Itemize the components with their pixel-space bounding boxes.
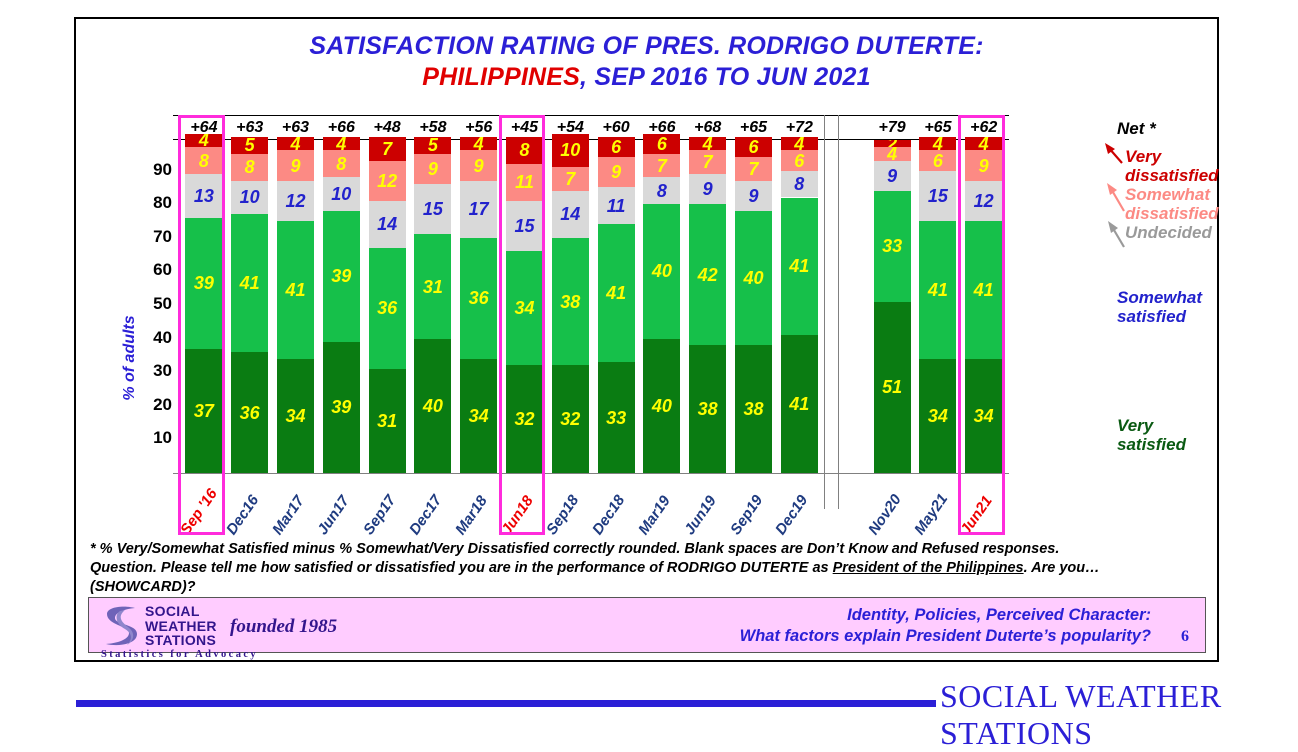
x-axis-label: Dec19 bbox=[772, 492, 811, 538]
segment-value: 10 bbox=[552, 141, 589, 159]
segment-value: 5 bbox=[414, 137, 451, 154]
segment-undecided[interactable]: 9 bbox=[689, 174, 726, 204]
net-value: +63 bbox=[227, 116, 273, 139]
segment-very-satisfied[interactable]: 40 bbox=[643, 339, 680, 473]
segment-undecided[interactable]: 11 bbox=[598, 187, 635, 224]
segment-value: 4 bbox=[323, 137, 360, 150]
x-axis-label: Dec18 bbox=[589, 492, 628, 538]
footer-rule bbox=[76, 700, 936, 707]
segment-value: 6 bbox=[643, 135, 680, 153]
segment-value: 14 bbox=[552, 205, 589, 223]
sws-line-3: STATIONS bbox=[145, 633, 217, 648]
segment-somewhat-satisfied[interactable]: 36 bbox=[460, 238, 497, 359]
segment-undecided[interactable]: 14 bbox=[552, 191, 589, 238]
segment-value: 4 bbox=[689, 137, 726, 150]
segment-very-satisfied[interactable]: 31 bbox=[369, 369, 406, 473]
segment-value: 33 bbox=[874, 237, 911, 255]
segment-very-dissatisfied[interactable]: 6 bbox=[598, 137, 635, 157]
segment-value: 41 bbox=[231, 274, 268, 292]
bar-column[interactable]: 39391084 bbox=[323, 137, 360, 473]
segment-somewhat-dissatisfied[interactable]: 12 bbox=[369, 161, 406, 201]
x-axis-label: Nov20 bbox=[865, 491, 905, 538]
net-value: +63 bbox=[273, 116, 319, 139]
segment-value: 41 bbox=[919, 281, 956, 299]
segment-somewhat-dissatisfied[interactable]: 7 bbox=[552, 167, 589, 191]
segment-value: 15 bbox=[919, 187, 956, 205]
segment-very-satisfied[interactable]: 40 bbox=[414, 339, 451, 473]
bar-column[interactable]: 4040876 bbox=[643, 134, 680, 473]
segment-very-satisfied[interactable]: 51 bbox=[874, 302, 911, 473]
segment-very-dissatisfied[interactable]: 6 bbox=[735, 137, 772, 157]
segment-very-dissatisfied[interactable]: 4 bbox=[277, 137, 314, 150]
segment-value: 9 bbox=[277, 157, 314, 175]
segment-somewhat-satisfied[interactable]: 38 bbox=[552, 238, 589, 366]
panel-separator-1 bbox=[824, 115, 825, 509]
bar-column[interactable]: 313614127 bbox=[369, 137, 406, 473]
highlight-box bbox=[499, 115, 546, 535]
segment-value: 4 bbox=[874, 147, 911, 160]
x-axis-label: Sep17 bbox=[360, 492, 399, 538]
net-value: +60 bbox=[593, 116, 639, 139]
segment-somewhat-satisfied[interactable]: 41 bbox=[231, 214, 268, 352]
segment-value: 40 bbox=[414, 397, 451, 415]
bar-column[interactable]: 5133942 bbox=[874, 140, 911, 473]
segment-very-satisfied[interactable]: 33 bbox=[598, 362, 635, 473]
segment-value: 41 bbox=[781, 257, 818, 275]
segment-undecided[interactable]: 17 bbox=[460, 181, 497, 238]
panel-separator-2 bbox=[838, 115, 839, 509]
segment-value: 9 bbox=[414, 160, 451, 178]
segment-value: 9 bbox=[874, 167, 911, 185]
sws-founded: founded 1985 bbox=[230, 616, 337, 638]
segment-undecided[interactable]: 12 bbox=[277, 181, 314, 221]
footnote-tail: . Are you… bbox=[1024, 560, 1100, 576]
net-value: +66 bbox=[318, 116, 364, 139]
sws-line-1: SOCIAL bbox=[145, 604, 217, 619]
segment-undecided[interactable]: 10 bbox=[323, 177, 360, 211]
band-headline-line-1: Identity, Policies, Perceived Character: bbox=[740, 605, 1151, 626]
segment-value: 39 bbox=[323, 267, 360, 285]
bar-column[interactable]: 36411085 bbox=[231, 137, 268, 473]
x-axis-baseline bbox=[173, 473, 1009, 474]
legend-very-satisfied: Verysatisfied bbox=[1117, 416, 1186, 454]
segment-value: 5 bbox=[231, 137, 268, 154]
segment-very-dissatisfied[interactable]: 4 bbox=[919, 137, 956, 150]
segment-value: 12 bbox=[369, 172, 406, 190]
segment-undecided[interactable]: 9 bbox=[874, 161, 911, 191]
segment-very-dissatisfied[interactable]: 5 bbox=[414, 137, 451, 154]
segment-very-dissatisfied[interactable]: 6 bbox=[643, 134, 680, 154]
x-axis-label: Mar17 bbox=[269, 493, 308, 538]
segment-somewhat-dissatisfied[interactable]: 9 bbox=[460, 150, 497, 180]
segment-somewhat-satisfied[interactable]: 40 bbox=[735, 211, 772, 345]
segment-value: 38 bbox=[552, 293, 589, 311]
bar-column[interactable]: 3842974 bbox=[689, 137, 726, 473]
segment-value: 11 bbox=[598, 197, 635, 215]
segment-value: 34 bbox=[277, 407, 314, 425]
bar-column[interactable]: 34411294 bbox=[277, 137, 314, 473]
segment-value: 9 bbox=[689, 180, 726, 198]
segment-value: 40 bbox=[643, 397, 680, 415]
segment-very-satisfied[interactable]: 34 bbox=[460, 359, 497, 473]
segment-value: 36 bbox=[460, 289, 497, 307]
segment-very-dissatisfied[interactable]: 2 bbox=[874, 140, 911, 147]
net-value: +79 bbox=[869, 116, 915, 139]
segment-value: 8 bbox=[323, 155, 360, 173]
sws-wordmark: SOCIAL WEATHER STATIONS bbox=[145, 604, 217, 648]
segment-value: 7 bbox=[689, 153, 726, 171]
segment-value: 6 bbox=[735, 138, 772, 156]
segment-somewhat-dissatisfied[interactable]: 9 bbox=[598, 157, 635, 187]
segment-value: 7 bbox=[735, 160, 772, 178]
bottom-band: SOCIAL WEATHER STATIONS founded 1985 Sta… bbox=[88, 597, 1206, 653]
segment-somewhat-dissatisfied[interactable]: 7 bbox=[689, 150, 726, 174]
x-axis-label: Jun19 bbox=[681, 493, 720, 538]
segment-undecided[interactable]: 8 bbox=[781, 171, 818, 198]
x-axis-label: Sep18 bbox=[543, 492, 582, 538]
footnote-line-3: (SHOWCARD)? bbox=[90, 578, 1200, 597]
segment-undecided[interactable]: 14 bbox=[369, 201, 406, 248]
segment-very-dissatisfied[interactable]: 4 bbox=[323, 137, 360, 150]
segment-value: 8 bbox=[231, 158, 268, 176]
segment-very-dissatisfied[interactable]: 4 bbox=[460, 137, 497, 150]
segment-value: 10 bbox=[231, 188, 268, 206]
segment-somewhat-dissatisfied[interactable]: 4 bbox=[874, 147, 911, 160]
net-value: +58 bbox=[410, 116, 456, 139]
x-axis-label: Sep19 bbox=[727, 492, 766, 538]
segment-somewhat-dissatisfied[interactable]: 9 bbox=[277, 150, 314, 180]
segment-value: 32 bbox=[552, 410, 589, 428]
bar-column[interactable]: 40311595 bbox=[414, 137, 451, 473]
footer-brand: SOCIAL WEATHER STATIONS bbox=[940, 678, 1298, 752]
segment-very-satisfied[interactable]: 34 bbox=[919, 359, 956, 473]
segment-very-dissatisfied[interactable]: 4 bbox=[781, 137, 818, 150]
net-value: +56 bbox=[456, 116, 502, 139]
segment-somewhat-dissatisfied[interactable]: 9 bbox=[414, 154, 451, 184]
y-tick-30: 30 bbox=[126, 361, 172, 381]
segment-value: 8 bbox=[643, 182, 680, 200]
bar-column[interactable]: 3840976 bbox=[735, 137, 772, 473]
segment-somewhat-satisfied[interactable]: 33 bbox=[874, 191, 911, 302]
segment-value: 9 bbox=[598, 163, 635, 181]
segment-value: 4 bbox=[277, 137, 314, 150]
footnote-line-1: * % Very/Somewhat Satisfied minus % Some… bbox=[90, 540, 1200, 559]
net-value: +65 bbox=[731, 116, 777, 139]
x-axis-label: Mar18 bbox=[452, 493, 491, 538]
segment-undecided[interactable]: 10 bbox=[231, 181, 268, 215]
segment-value: 7 bbox=[369, 140, 406, 158]
segment-value: 14 bbox=[369, 215, 406, 233]
page-number: 6 bbox=[1181, 628, 1189, 646]
legend-arrows bbox=[1102, 141, 1162, 271]
sws-line-2: WEATHER bbox=[145, 619, 217, 634]
segment-value: 17 bbox=[460, 200, 497, 218]
segment-somewhat-satisfied[interactable]: 42 bbox=[689, 204, 726, 345]
y-tick-60: 60 bbox=[126, 260, 172, 280]
segment-value: 40 bbox=[643, 262, 680, 280]
segment-somewhat-satisfied[interactable]: 39 bbox=[323, 211, 360, 342]
segment-value: 7 bbox=[552, 170, 589, 188]
footnotes: * % Very/Somewhat Satisfied minus % Some… bbox=[90, 540, 1200, 597]
segment-value: 41 bbox=[598, 284, 635, 302]
bar-column[interactable]: 33411196 bbox=[598, 137, 635, 473]
segment-value: 41 bbox=[781, 395, 818, 413]
bar-column[interactable]: 34411564 bbox=[919, 137, 956, 473]
segment-somewhat-dissatisfied[interactable]: 7 bbox=[643, 154, 680, 178]
x-axis-label: Dec16 bbox=[223, 492, 262, 538]
segment-value: 2 bbox=[874, 140, 911, 147]
segment-very-dissatisfied[interactable]: 4 bbox=[689, 137, 726, 150]
segment-somewhat-dissatisfied[interactable]: 8 bbox=[323, 150, 360, 177]
segment-value: 51 bbox=[874, 378, 911, 396]
segment-value: 4 bbox=[781, 137, 818, 150]
segment-value: 31 bbox=[369, 412, 406, 430]
segment-undecided[interactable]: 8 bbox=[643, 177, 680, 204]
segment-value: 10 bbox=[323, 185, 360, 203]
segment-value: 39 bbox=[323, 398, 360, 416]
segment-value: 36 bbox=[231, 404, 268, 422]
segment-very-satisfied[interactable]: 41 bbox=[781, 335, 818, 473]
segment-very-satisfied[interactable]: 36 bbox=[231, 352, 268, 473]
highlight-box bbox=[958, 115, 1005, 535]
y-tick-80: 80 bbox=[126, 193, 172, 213]
segment-somewhat-dissatisfied[interactable]: 6 bbox=[781, 150, 818, 170]
segment-somewhat-satisfied[interactable]: 41 bbox=[781, 198, 818, 336]
segment-undecided[interactable]: 15 bbox=[414, 184, 451, 234]
segment-undecided[interactable]: 15 bbox=[919, 171, 956, 221]
y-tick-50: 50 bbox=[126, 294, 172, 314]
segment-value: 6 bbox=[919, 152, 956, 170]
segment-somewhat-satisfied[interactable]: 40 bbox=[643, 204, 680, 338]
footnote-question: Question. Please tell me how satisfied o… bbox=[90, 560, 833, 576]
segment-value: 31 bbox=[414, 278, 451, 296]
bar-column[interactable]: 323814710 bbox=[552, 134, 589, 473]
segment-somewhat-dissatisfied[interactable]: 8 bbox=[231, 154, 268, 181]
segment-somewhat-satisfied[interactable]: 31 bbox=[414, 234, 451, 338]
segment-value: 9 bbox=[460, 157, 497, 175]
band-headline-line-2: What factors explain President Duterte’s… bbox=[740, 626, 1151, 647]
segment-very-dissatisfied[interactable]: 10 bbox=[552, 134, 589, 168]
segment-value: 9 bbox=[735, 187, 772, 205]
net-value: +68 bbox=[685, 116, 731, 139]
x-axis-label: Dec17 bbox=[406, 492, 445, 538]
segment-value: 15 bbox=[414, 200, 451, 218]
highlight-box bbox=[178, 115, 225, 535]
y-tick-70: 70 bbox=[126, 227, 172, 247]
segment-value: 34 bbox=[460, 407, 497, 425]
sws-logo: SOCIAL WEATHER STATIONS founded 1985 Sta… bbox=[97, 602, 397, 650]
segment-somewhat-dissatisfied[interactable]: 6 bbox=[919, 150, 956, 170]
slide-frame: SATISFACTION RATING OF PRES. RODRIGO DUT… bbox=[74, 17, 1219, 662]
sws-swoosh-icon bbox=[103, 604, 143, 648]
x-axis-label: May21 bbox=[911, 491, 951, 538]
segment-value: 34 bbox=[919, 407, 956, 425]
segment-value: 12 bbox=[277, 192, 314, 210]
legend-somewhat-satisfied: Somewhatsatisfied bbox=[1117, 288, 1202, 326]
footnote-underlined: President of the Philippines bbox=[833, 560, 1024, 576]
segment-somewhat-dissatisfied[interactable]: 7 bbox=[735, 157, 772, 181]
footnote-line-2: Question. Please tell me how satisfied o… bbox=[90, 559, 1200, 578]
band-headline: Identity, Policies, Perceived Character:… bbox=[740, 605, 1151, 647]
segment-value: 33 bbox=[598, 409, 635, 427]
segment-value: 38 bbox=[735, 400, 772, 418]
x-axis-label: Jun17 bbox=[314, 493, 353, 538]
segment-value: 4 bbox=[919, 137, 956, 150]
segment-very-dissatisfied[interactable]: 5 bbox=[231, 137, 268, 154]
segment-somewhat-satisfied[interactable]: 36 bbox=[369, 248, 406, 369]
segment-very-dissatisfied[interactable]: 7 bbox=[369, 137, 406, 161]
y-tick-20: 20 bbox=[126, 395, 172, 415]
segment-somewhat-satisfied[interactable]: 41 bbox=[277, 221, 314, 359]
sws-tagline: Statistics for Advocacy bbox=[101, 649, 258, 660]
segment-very-satisfied[interactable]: 32 bbox=[552, 365, 589, 473]
legend-net-label: Net * bbox=[1117, 119, 1156, 138]
segment-value: 6 bbox=[598, 138, 635, 156]
net-value: +72 bbox=[776, 116, 822, 139]
net-value: +65 bbox=[915, 116, 961, 139]
segment-value: 8 bbox=[781, 175, 818, 193]
bar-column[interactable]: 34361794 bbox=[460, 137, 497, 473]
segment-very-satisfied[interactable]: 38 bbox=[735, 345, 772, 473]
segment-undecided[interactable]: 9 bbox=[735, 181, 772, 211]
segment-value: 38 bbox=[689, 400, 726, 418]
x-axis-label: Mar19 bbox=[635, 493, 674, 538]
segment-somewhat-satisfied[interactable]: 41 bbox=[919, 221, 956, 359]
bar-column[interactable]: 4141864 bbox=[781, 137, 818, 473]
segment-somewhat-satisfied[interactable]: 41 bbox=[598, 224, 635, 362]
y-tick-90: 90 bbox=[126, 160, 172, 180]
y-tick-40: 40 bbox=[126, 328, 172, 348]
segment-value: 40 bbox=[735, 269, 772, 287]
segment-value: 36 bbox=[369, 299, 406, 317]
net-value: +48 bbox=[364, 116, 410, 139]
segment-value: 4 bbox=[460, 137, 497, 150]
y-tick-10: 10 bbox=[126, 428, 172, 448]
segment-value: 6 bbox=[781, 152, 818, 170]
segment-value: 7 bbox=[643, 157, 680, 175]
segment-very-satisfied[interactable]: 38 bbox=[689, 345, 726, 473]
segment-very-satisfied[interactable]: 39 bbox=[323, 342, 360, 473]
segment-very-satisfied[interactable]: 34 bbox=[277, 359, 314, 473]
segment-value: 41 bbox=[277, 281, 314, 299]
segment-value: 42 bbox=[689, 266, 726, 284]
